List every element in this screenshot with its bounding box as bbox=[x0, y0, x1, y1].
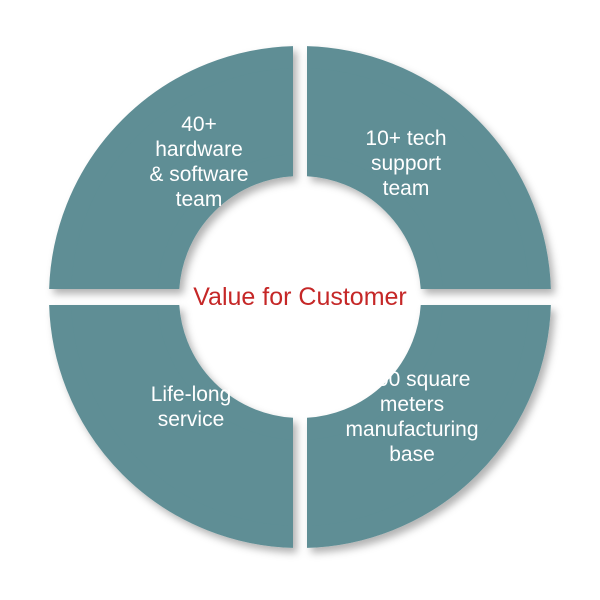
value-for-customer-diagram: 40+ hardware & software team 10+ tech su… bbox=[0, 0, 600, 600]
segment-top-right[interactable] bbox=[300, 57, 540, 297]
segment-top-left[interactable] bbox=[60, 57, 300, 297]
segment-bottom-right[interactable] bbox=[300, 297, 540, 537]
donut-chart-graphic bbox=[0, 0, 600, 600]
segment-bottom-left[interactable] bbox=[60, 297, 300, 537]
